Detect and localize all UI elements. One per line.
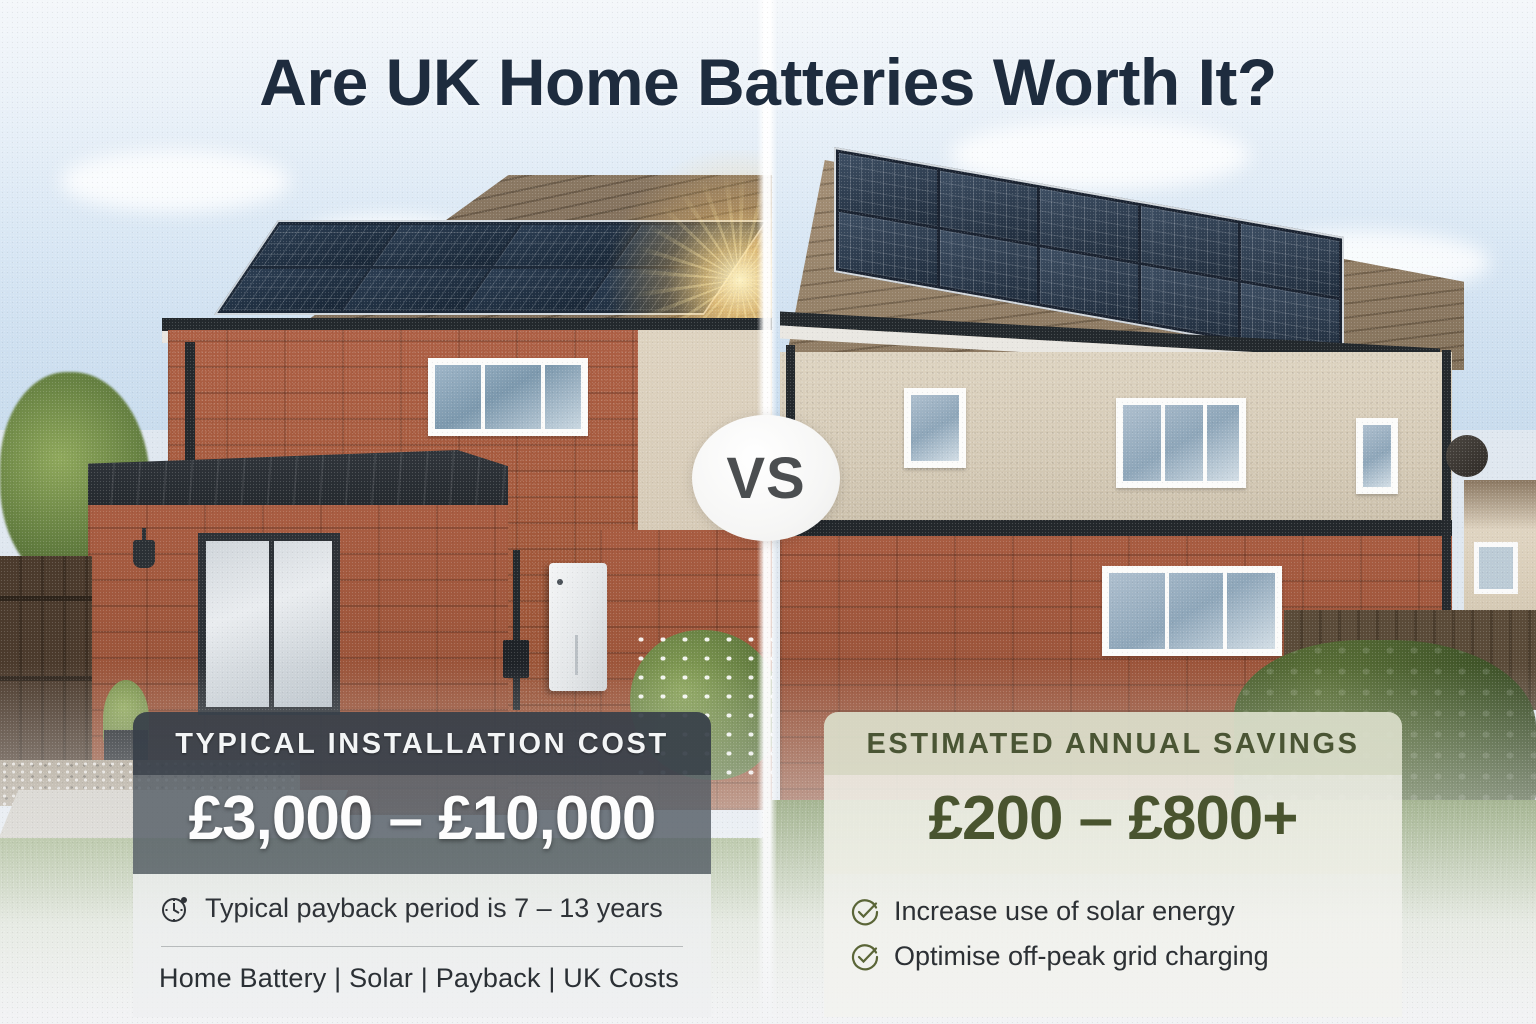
benefit-text: Increase use of solar energy xyxy=(894,896,1235,927)
battery-conduit xyxy=(513,550,520,710)
benefit-row: Optimise off-peak grid charging xyxy=(850,941,1376,972)
lower-window-right xyxy=(1102,566,1282,656)
isolator-box xyxy=(503,640,529,678)
benefit-row: Increase use of solar energy xyxy=(850,896,1376,927)
home-battery-unit xyxy=(549,563,607,691)
installation-cost-body: Typical payback period is 7 – 13 years H… xyxy=(133,874,711,1017)
annual-savings-body: Increase use of solar energy Optimise of… xyxy=(824,874,1402,1017)
page-title: Are UK Home Batteries Worth It? xyxy=(0,48,1536,117)
circle-check-icon xyxy=(850,897,880,927)
string-course-right xyxy=(780,520,1452,536)
benefit-text: Optimise off-peak grid charging xyxy=(894,941,1269,972)
installation-cost-card: TYPICAL INSTALLATION COST £3,000 – £10,0… xyxy=(133,712,711,1024)
annual-savings-header: ESTIMATED ANNUAL SAVINGS xyxy=(824,712,1402,775)
wall-lamp-icon xyxy=(133,540,155,568)
patio-doors-left xyxy=(198,533,340,715)
satellite-dish-icon xyxy=(1446,435,1488,477)
circle-check-icon xyxy=(850,942,880,972)
annual-savings-card: ESTIMATED ANNUAL SAVINGS £200 – £800+ In… xyxy=(824,712,1402,1024)
topic-tags: Home Battery | Solar | Payback | UK Cost… xyxy=(159,963,685,994)
stopwatch-icon xyxy=(159,892,191,924)
porch-roof-left xyxy=(88,450,508,512)
installation-cost-header: TYPICAL INSTALLATION COST xyxy=(133,712,711,775)
upper-window-right-3 xyxy=(1356,418,1398,494)
installation-cost-value: £3,000 – £10,000 xyxy=(133,775,711,874)
payback-note-row: Typical payback period is 7 – 13 years xyxy=(159,892,685,924)
card-divider xyxy=(161,946,683,947)
upper-window-right-1 xyxy=(904,388,966,468)
annual-savings-value: £200 – £800+ xyxy=(824,775,1402,874)
upper-window-right-2 xyxy=(1116,398,1246,488)
infographic-canvas: Are UK Home Batteries Worth It? VS TYPIC… xyxy=(0,0,1536,1024)
upper-window-left xyxy=(428,358,588,436)
payback-note-text: Typical payback period is 7 – 13 years xyxy=(205,893,663,924)
fence-left xyxy=(0,556,92,792)
vs-badge: VS xyxy=(692,415,840,541)
